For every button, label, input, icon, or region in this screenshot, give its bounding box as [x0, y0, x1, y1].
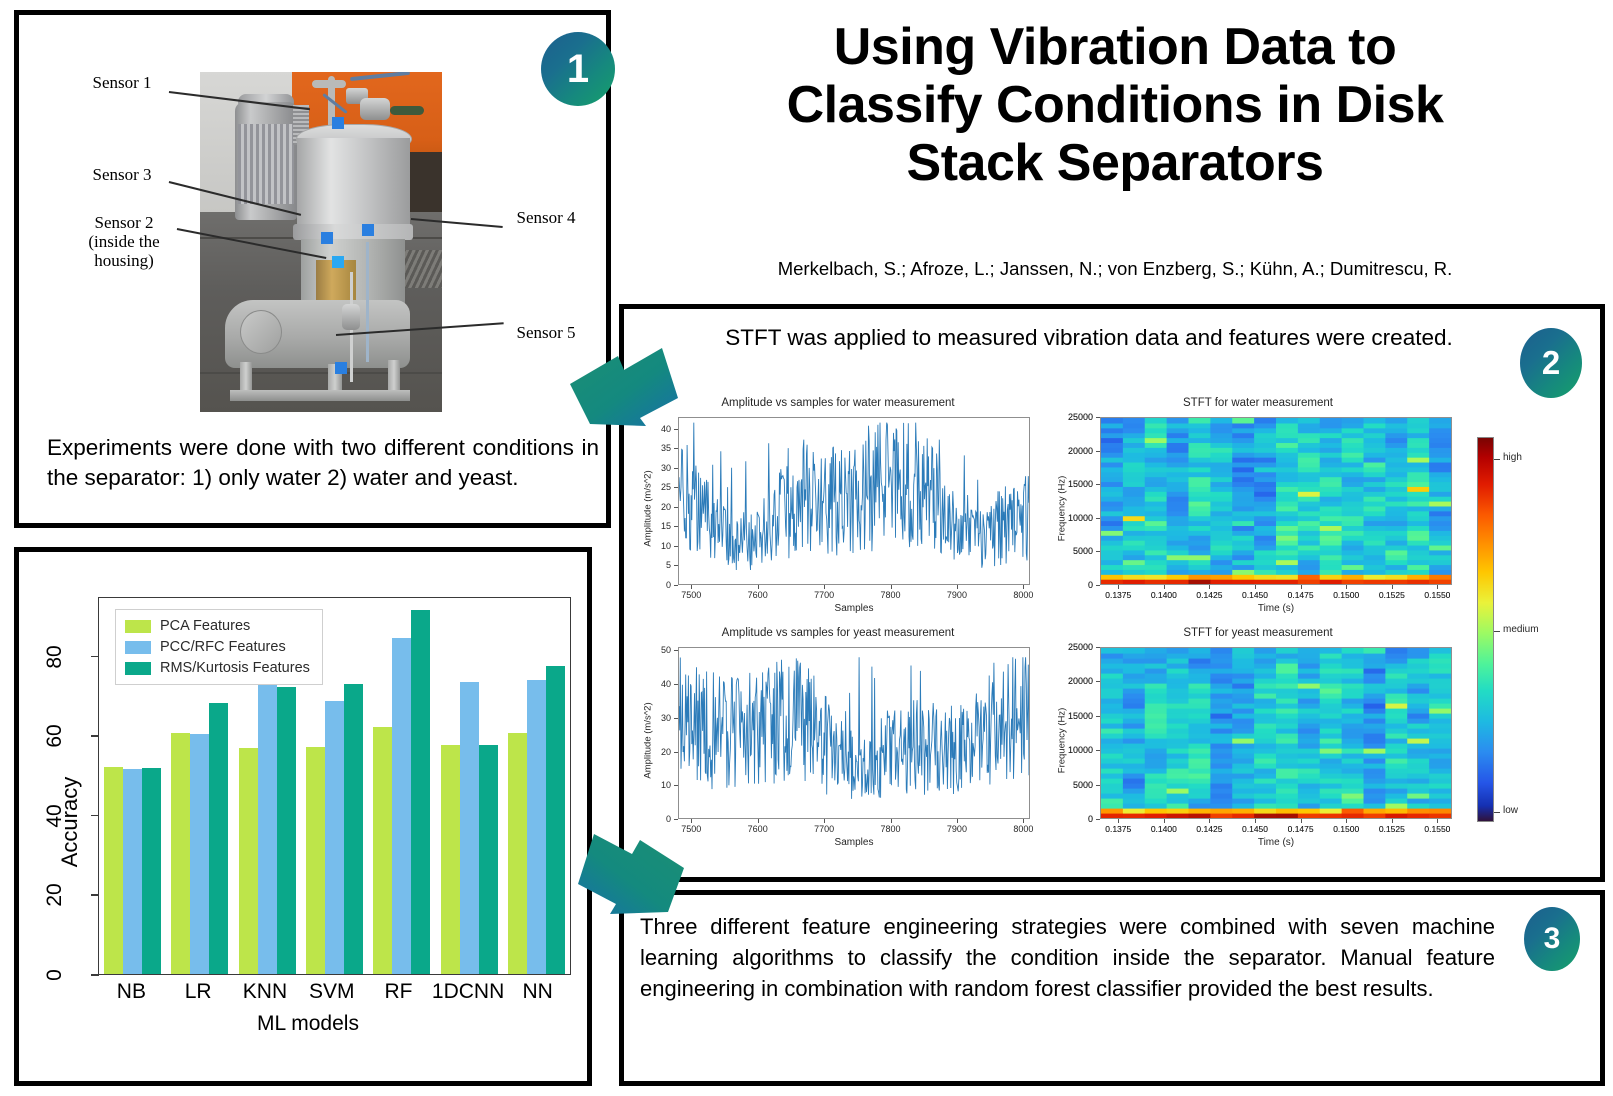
- x-tick-mark: [1209, 585, 1210, 589]
- bar: [306, 747, 325, 974]
- y-tick-label: 20: [43, 884, 67, 907]
- y-tick-mark: [674, 684, 678, 685]
- panel-accuracy-chart: Accuracy 020406080 NBLRKNNSVMRF1DCNNNN M…: [14, 547, 592, 1086]
- figure-y-axis-label: Frequency (Hz): [1057, 439, 1068, 579]
- x-tick-mark: [1346, 819, 1347, 823]
- y-tick-label: 30: [661, 463, 671, 473]
- sensor-3-label: Sensor 3: [79, 165, 165, 184]
- x-tick-label: 0.1425: [1196, 824, 1222, 834]
- x-tick-label: 0.1450: [1242, 590, 1268, 600]
- legend-label: PCC/RFC Features: [160, 639, 286, 655]
- y-tick-label: 5000: [1073, 546, 1093, 556]
- y-tick-mark: [674, 468, 678, 469]
- legend-label: PCA Features: [160, 618, 250, 634]
- x-tick-mark: [891, 585, 892, 589]
- x-tick-mark: [824, 585, 825, 589]
- x-tick-label: 0.1425: [1196, 590, 1222, 600]
- photo-connector: [342, 304, 360, 330]
- sensor-2-label-line3: housing): [72, 251, 176, 270]
- panel3-text: Three different feature engineering stra…: [640, 911, 1495, 1005]
- bar: [142, 768, 161, 974]
- bar: [258, 670, 277, 974]
- x-tick-mark: [1023, 585, 1024, 589]
- legend-item: PCA Features: [125, 618, 310, 634]
- sensor-2-label-line2: (inside the: [72, 232, 176, 251]
- y-tick-label: 50: [661, 645, 671, 655]
- photo-cable: [366, 242, 369, 362]
- figure-plot-area: [1100, 647, 1452, 819]
- x-tick-mark: [891, 819, 892, 823]
- y-tick-label: 15000: [1068, 711, 1093, 721]
- arrow-stft-to-results: [570, 822, 690, 918]
- y-tick-mark: [1096, 681, 1100, 682]
- panel2-heading: STFT was applied to measured vibration d…: [684, 323, 1494, 352]
- x-tick-label: RF: [365, 980, 432, 1004]
- y-tick-label: 20: [661, 747, 671, 757]
- sensor-marker-2: [332, 256, 344, 268]
- colorbar-tick-high: [1494, 459, 1500, 460]
- bar: [239, 748, 258, 974]
- photo-valve: [360, 98, 390, 120]
- sensor-marker-4: [362, 224, 374, 236]
- x-tick-label: 0.1375: [1105, 824, 1131, 834]
- x-tick-label: 7800: [881, 590, 901, 600]
- badge-2: 2: [1520, 328, 1582, 398]
- y-tick-label: 20000: [1068, 446, 1093, 456]
- legend-item: RMS/Kurtosis Features: [125, 660, 310, 676]
- x-tick-label: 0.1400: [1151, 824, 1177, 834]
- y-tick-mark: [674, 448, 678, 449]
- y-tick-label: 0: [43, 969, 67, 981]
- x-tick-label: 1DCNN: [432, 980, 504, 1004]
- x-tick-label: 7500: [681, 590, 701, 600]
- y-tick-mark: [1096, 785, 1100, 786]
- x-tick-label: 0.1500: [1333, 590, 1359, 600]
- figure-plot-area: [678, 647, 1030, 819]
- x-tick-mark: [1118, 819, 1119, 823]
- y-tick-label: 25000: [1068, 642, 1093, 652]
- photo-motor-fins: [238, 124, 294, 204]
- figure-plot-area: [1100, 417, 1452, 585]
- bar: [373, 727, 392, 974]
- x-tick-label: KNN: [232, 980, 299, 1004]
- y-tick-mark: [1096, 716, 1100, 717]
- colorbar-label-low: low: [1503, 805, 1518, 816]
- y-tick-mark: [91, 815, 99, 817]
- arrow-setup-to-stft: [566, 332, 686, 428]
- figure-stft-yeast: STFT for yeast measurement Frequency (Hz…: [1048, 627, 1468, 865]
- legend-swatch: [125, 662, 151, 675]
- bar: [171, 733, 190, 974]
- figure-x-axis-label: Time (s): [1100, 837, 1452, 848]
- y-tick-mark: [1096, 451, 1100, 452]
- y-tick-label: 30: [661, 713, 671, 723]
- figure-y-axis-label: Amplitude (m/s^2): [643, 439, 654, 579]
- panel-experimental-setup: 1: [14, 10, 611, 528]
- x-tick-label: SVM: [298, 980, 365, 1004]
- title-line-2: Classify Conditions in Disk: [655, 76, 1575, 134]
- x-tick-mark: [1437, 819, 1438, 823]
- poster-root: Using Vibration Data to Classify Conditi…: [0, 0, 1613, 1096]
- x-tick-mark: [691, 585, 692, 589]
- x-tick-mark: [1164, 585, 1165, 589]
- y-tick-mark: [674, 429, 678, 430]
- y-tick-label: 5: [666, 560, 671, 570]
- y-tick-label: 35: [661, 443, 671, 453]
- y-tick-mark: [1096, 750, 1100, 751]
- x-tick-label: 7600: [748, 824, 768, 834]
- heatmap-cells: [1101, 418, 1451, 584]
- figure-plot-area: [678, 417, 1030, 585]
- badge-1: 1: [541, 32, 615, 106]
- figure-title: Amplitude vs samples for water measureme…: [630, 397, 1046, 409]
- x-tick-mark: [957, 819, 958, 823]
- y-tick-label: 15: [661, 521, 671, 531]
- y-tick-mark: [91, 974, 99, 976]
- legend-label: RMS/Kurtosis Features: [160, 660, 310, 676]
- sensor-2-label: Sensor 2 (inside the housing): [72, 213, 176, 270]
- sensor-marker-5: [335, 362, 347, 374]
- figure-title: STFT for water measurement: [1048, 397, 1468, 409]
- bar: [123, 769, 142, 974]
- x-tick-mark: [824, 819, 825, 823]
- bar: [392, 638, 411, 974]
- photo-bowl: [297, 138, 410, 230]
- x-tick-mark: [691, 819, 692, 823]
- y-tick-mark: [91, 735, 99, 737]
- bar: [441, 745, 460, 974]
- y-tick-mark: [1096, 647, 1100, 648]
- y-tick-mark: [674, 819, 678, 820]
- panel-conclusion: 3 Three different feature engineering st…: [619, 890, 1605, 1086]
- y-tick-mark: [674, 718, 678, 719]
- y-tick-mark: [674, 487, 678, 488]
- bar: [508, 733, 527, 974]
- panel1-caption: Experiments were done with two different…: [47, 433, 599, 493]
- y-tick-label: 10: [661, 780, 671, 790]
- photo-inspection-hatch: [240, 310, 282, 354]
- x-tick-label: 0.1550: [1424, 824, 1450, 834]
- title-line-3: Stack Separators: [655, 134, 1575, 192]
- chart-legend: PCA FeaturesPCC/RFC FeaturesRMS/Kurtosis…: [115, 609, 323, 685]
- series-line: [679, 648, 1029, 818]
- x-tick-label: 0.1550: [1424, 590, 1450, 600]
- y-tick-mark: [674, 785, 678, 786]
- y-tick-label: 10000: [1068, 513, 1093, 523]
- bar: [479, 745, 498, 974]
- y-tick-label: 20: [661, 502, 671, 512]
- figure-stft-water: STFT for water measurement Frequency (Hz…: [1048, 397, 1468, 627]
- y-tick-mark: [674, 546, 678, 547]
- heatmap-cells: [1101, 648, 1451, 818]
- x-tick-mark: [1164, 819, 1165, 823]
- page-title: Using Vibration Data to Classify Conditi…: [655, 18, 1575, 193]
- photo-hose-green: [390, 106, 424, 115]
- photo-pipe: [312, 80, 346, 88]
- x-tick-label: 0.1525: [1379, 590, 1405, 600]
- x-tick-label: 8000: [1013, 824, 1033, 834]
- legend-swatch: [125, 620, 151, 633]
- legend-swatch: [125, 641, 151, 654]
- y-tick-mark: [674, 565, 678, 566]
- colorbar-label-high: high: [1503, 452, 1522, 463]
- bar: [277, 687, 296, 974]
- y-tick-mark: [674, 507, 678, 508]
- author-list: Merkelbach, S.; Afroze, L.; Janssen, N.;…: [655, 258, 1575, 280]
- x-tick-label: 0.1475: [1288, 824, 1314, 834]
- x-tick-label: 0.1400: [1151, 590, 1177, 600]
- photo-bowl-flange: [293, 224, 413, 240]
- x-tick-mark: [758, 585, 759, 589]
- y-tick-mark: [1096, 518, 1100, 519]
- x-axis-ticks: NBLRKNNSVMRF1DCNNNN: [98, 980, 571, 1004]
- figure-x-axis-label: Samples: [678, 603, 1030, 614]
- y-tick-label: 25: [661, 482, 671, 492]
- badge-3: 3: [1524, 907, 1580, 971]
- x-tick-label: NN: [504, 980, 571, 1004]
- y-tick-label: 80: [43, 645, 67, 668]
- y-tick-mark: [674, 585, 678, 586]
- figure-y-axis-label: Frequency (Hz): [1057, 671, 1068, 811]
- y-tick-label: 60: [43, 725, 67, 748]
- x-tick-label: 8000: [1013, 590, 1033, 600]
- y-tick-mark: [91, 894, 99, 896]
- bar: [527, 680, 546, 974]
- x-axis-label: ML models: [19, 1012, 597, 1036]
- figure-title: STFT for yeast measurement: [1048, 627, 1468, 639]
- figure-y-axis-label: Amplitude (m/s^2): [643, 671, 654, 811]
- bar: [344, 684, 363, 974]
- bar: [546, 666, 565, 974]
- y-tick-mark: [1096, 484, 1100, 485]
- y-tick-mark: [674, 526, 678, 527]
- bar-group: [368, 598, 435, 974]
- series-line: [679, 418, 1029, 584]
- x-tick-mark: [1023, 819, 1024, 823]
- y-tick-mark: [1096, 551, 1100, 552]
- y-tick-mark: [1096, 585, 1100, 586]
- x-tick-mark: [1437, 585, 1438, 589]
- figure-x-axis-label: Samples: [678, 837, 1030, 848]
- x-tick-mark: [1301, 585, 1302, 589]
- photo-base-frame: [230, 390, 410, 401]
- bar: [104, 767, 123, 974]
- x-tick-mark: [957, 585, 958, 589]
- y-tick-label: 25000: [1068, 412, 1093, 422]
- separator-photo: [200, 72, 442, 412]
- x-tick-label: NB: [98, 980, 165, 1004]
- y-tick-mark: [674, 752, 678, 753]
- x-tick-label: 0.1375: [1105, 590, 1131, 600]
- x-tick-label: 7700: [814, 590, 834, 600]
- sensor-1-label: Sensor 1: [79, 73, 165, 92]
- x-tick-mark: [1209, 819, 1210, 823]
- x-tick-mark: [1301, 819, 1302, 823]
- photo-floor-line: [200, 372, 442, 374]
- bar-group: [435, 598, 502, 974]
- y-tick-label: 0: [1088, 814, 1093, 824]
- title-line-1: Using Vibration Data to: [655, 18, 1575, 76]
- x-tick-label: 0.1450: [1242, 824, 1268, 834]
- x-tick-mark: [1346, 585, 1347, 589]
- bar: [325, 701, 344, 974]
- y-tick-mark: [1096, 417, 1100, 418]
- bar: [411, 610, 430, 974]
- figure-yeast-timeseries: Amplitude vs samples for yeast measureme…: [630, 627, 1046, 865]
- x-tick-mark: [1255, 819, 1256, 823]
- panel-stft-figures: 2 STFT was applied to measured vibration…: [619, 304, 1605, 882]
- x-tick-label: 0.1475: [1288, 590, 1314, 600]
- x-tick-label: 0.1500: [1333, 824, 1359, 834]
- bar: [460, 682, 479, 974]
- figure-title: Amplitude vs samples for yeast measureme…: [630, 627, 1046, 639]
- bar: [209, 703, 228, 974]
- figure-water-timeseries: Amplitude vs samples for water measureme…: [630, 397, 1046, 627]
- y-tick-label: 0: [666, 580, 671, 590]
- x-tick-mark: [1392, 585, 1393, 589]
- colorbar-label-medium: medium: [1503, 624, 1539, 635]
- sensor-marker-3: [321, 232, 333, 244]
- sensor-2-label-line1: Sensor 2: [72, 213, 176, 232]
- y-tick-label: 40: [661, 679, 671, 689]
- y-tick-label: 15000: [1068, 479, 1093, 489]
- y-tick-label: 0: [1088, 580, 1093, 590]
- y-tick-label: 10000: [1068, 745, 1093, 755]
- y-tick-label: 20000: [1068, 676, 1093, 686]
- y-tick-label: 10: [661, 541, 671, 551]
- figure-x-axis-label: Time (s): [1100, 603, 1452, 614]
- colorbar: [1477, 437, 1494, 822]
- x-tick-label: 7800: [881, 824, 901, 834]
- x-tick-mark: [1255, 585, 1256, 589]
- x-tick-label: 7900: [947, 590, 967, 600]
- sensor-4-label: Sensor 4: [501, 208, 591, 227]
- accuracy-bar-chart: Accuracy 020406080 NBLRKNNSVMRF1DCNNNN M…: [19, 552, 597, 1091]
- y-tick-mark: [91, 656, 99, 658]
- x-tick-label: 7700: [814, 824, 834, 834]
- y-tick-mark: [674, 650, 678, 651]
- x-tick-label: 7600: [748, 590, 768, 600]
- colorbar-tick-medium: [1494, 631, 1500, 632]
- x-tick-mark: [758, 819, 759, 823]
- x-tick-label: 7900: [947, 824, 967, 834]
- y-tick-label: 5000: [1073, 780, 1093, 790]
- bar: [190, 734, 209, 974]
- x-tick-label: 0.1525: [1379, 824, 1405, 834]
- y-tick-mark: [1096, 819, 1100, 820]
- colorbar-tick-low: [1494, 812, 1500, 813]
- x-tick-label: LR: [165, 980, 232, 1004]
- bar-group: [503, 598, 570, 974]
- y-tick-label: 40: [43, 804, 67, 827]
- legend-item: PCC/RFC Features: [125, 639, 310, 655]
- x-tick-mark: [1392, 819, 1393, 823]
- sensor-marker-1: [332, 117, 344, 129]
- x-tick-mark: [1118, 585, 1119, 589]
